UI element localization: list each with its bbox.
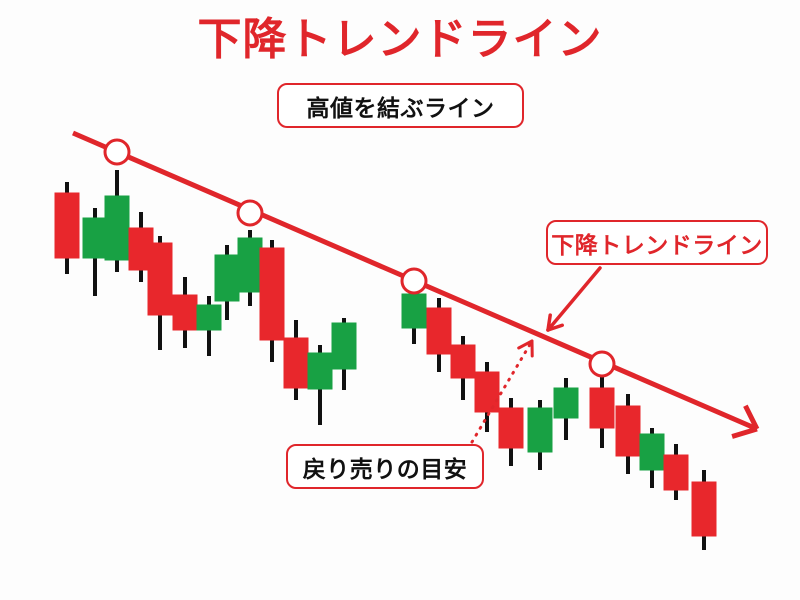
candle-body-bearish [148, 243, 172, 315]
candle [427, 298, 451, 372]
candle-body-bearish [55, 193, 79, 258]
candle-body-bullish [554, 388, 578, 418]
candle [148, 236, 172, 350]
touch-point-marker[interactable] [402, 269, 426, 293]
candle [197, 296, 221, 356]
candle [173, 277, 197, 348]
candle [692, 470, 716, 550]
candle-body-bearish [451, 345, 475, 378]
candle-body-bearish [284, 338, 308, 388]
candle-body-bearish [590, 388, 614, 428]
candle [105, 170, 129, 272]
candle-body-bearish [616, 406, 640, 456]
candle [238, 230, 262, 306]
candle [55, 182, 79, 274]
candle [260, 240, 284, 362]
candle [664, 444, 688, 500]
candle-body-bearish [664, 455, 688, 490]
candle-body-bearish [692, 482, 716, 536]
candle [528, 400, 552, 470]
arrow-to-downtrend-line-shaft [548, 268, 600, 330]
candle [554, 378, 578, 440]
candle-body-bullish [528, 408, 552, 452]
candle-body-bearish [260, 248, 284, 340]
touch-point-marker[interactable] [590, 352, 614, 376]
candle [475, 362, 499, 432]
candle [640, 428, 664, 488]
candle-body-bullish [402, 294, 426, 328]
candle-body-bearish [173, 295, 197, 330]
candle-body-bullish [308, 353, 332, 389]
candle [616, 394, 640, 474]
callout-downtrend-line[interactable]: 下降トレンドライン [546, 220, 768, 265]
candle [451, 336, 475, 400]
candle-body-bearish [475, 372, 499, 412]
candle [402, 288, 426, 344]
candle [332, 318, 356, 390]
candle [83, 208, 107, 296]
candle-body-bullish [332, 323, 356, 369]
candle-body-bearish [499, 408, 523, 448]
callout-pullback-entry-guide[interactable]: 戻り売りの目安 [286, 444, 484, 489]
candle-body-bullish [83, 218, 107, 258]
touch-point-marker[interactable] [238, 201, 262, 225]
candle-body-bullish [197, 305, 221, 330]
candle [284, 320, 308, 400]
candle-body-bullish [640, 434, 664, 470]
candle-body-bullish [105, 196, 129, 260]
candle-body-bearish [427, 308, 451, 354]
downtrend-arrowhead-1 [732, 429, 757, 436]
chart-canvas: 下降トレンドライン 高値を結ぶライン 下降トレンドライン 戻り売りの目安 [0, 0, 800, 600]
candle [308, 345, 332, 425]
candle-body-bullish [215, 255, 239, 301]
candle [499, 398, 523, 466]
candle [590, 376, 614, 448]
callout-line-connecting-highs[interactable]: 高値を結ぶライン [277, 83, 524, 128]
touch-point-marker[interactable] [105, 140, 129, 164]
candle-body-bullish [238, 238, 262, 292]
